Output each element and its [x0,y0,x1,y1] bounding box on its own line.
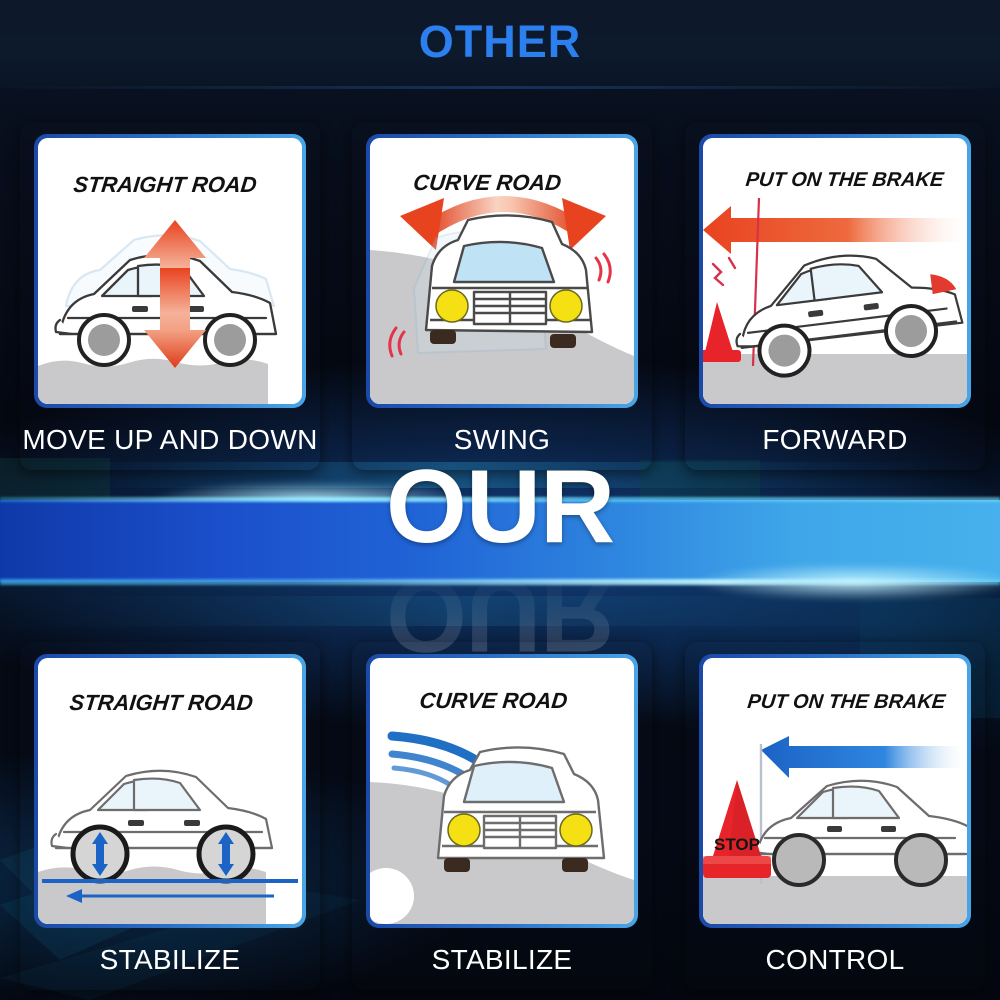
card-caption: FORWARD [685,424,985,456]
card-caption: CONTROL [685,944,985,976]
product-feature-graphic: OTHER [0,0,1000,1000]
headlight-left-icon [436,290,468,322]
headlight-right-icon [560,814,592,846]
card-stabilize-curve[interactable]: CURVE ROAD STABILIZE [352,642,652,990]
card-swing[interactable]: CURVE ROAD SWING [352,122,652,470]
card-caption: STABILIZE [352,944,652,976]
card-illustration-forward: PUT ON THE BRAKE [703,138,967,404]
card-illustration-stabilize-curve: CURVE ROAD [370,658,634,924]
card-move-up-and-down[interactable]: STRAIGHT ROAD MOVE UP AND DOWN [20,122,320,470]
center-banner: OUR OUR [0,455,1000,650]
scene-label: STRAIGHT ROAD [68,690,254,715]
scene-label: CURVE ROAD [412,170,563,195]
card-illustration-move-up-and-down: STRAIGHT ROAD [38,138,302,404]
card-caption: MOVE UP AND DOWN [20,424,320,456]
scene-label: PUT ON THE BRAKE [745,169,946,191]
card-illustration-stabilize-straight: STRAIGHT ROAD [38,658,302,924]
card-stabilize-straight[interactable]: STRAIGHT ROAD STABILIZE [20,642,320,990]
scene-label: CURVE ROAD [418,688,569,713]
scene-label: PUT ON THE BRAKE [746,691,947,713]
header-divider [0,86,1000,89]
card-illustration-control: STOP PUT ON THE BRAKE [703,658,967,924]
headlight-left-icon [448,814,480,846]
card-illustration-swing: CURVE ROAD [370,138,634,404]
scene-label: STRAIGHT ROAD [72,172,258,197]
card-control[interactable]: STOP PUT ON THE BRAKE CONTROL [685,642,985,990]
cone-stop-label: STOP [714,835,760,854]
banner-word: OUR [0,455,1000,559]
card-forward[interactable]: PUT ON THE BRAKE FORWARD [685,122,985,470]
page-title: OTHER [0,16,1000,68]
card-caption: STABILIZE [20,944,320,976]
headlight-right-icon [550,290,582,322]
